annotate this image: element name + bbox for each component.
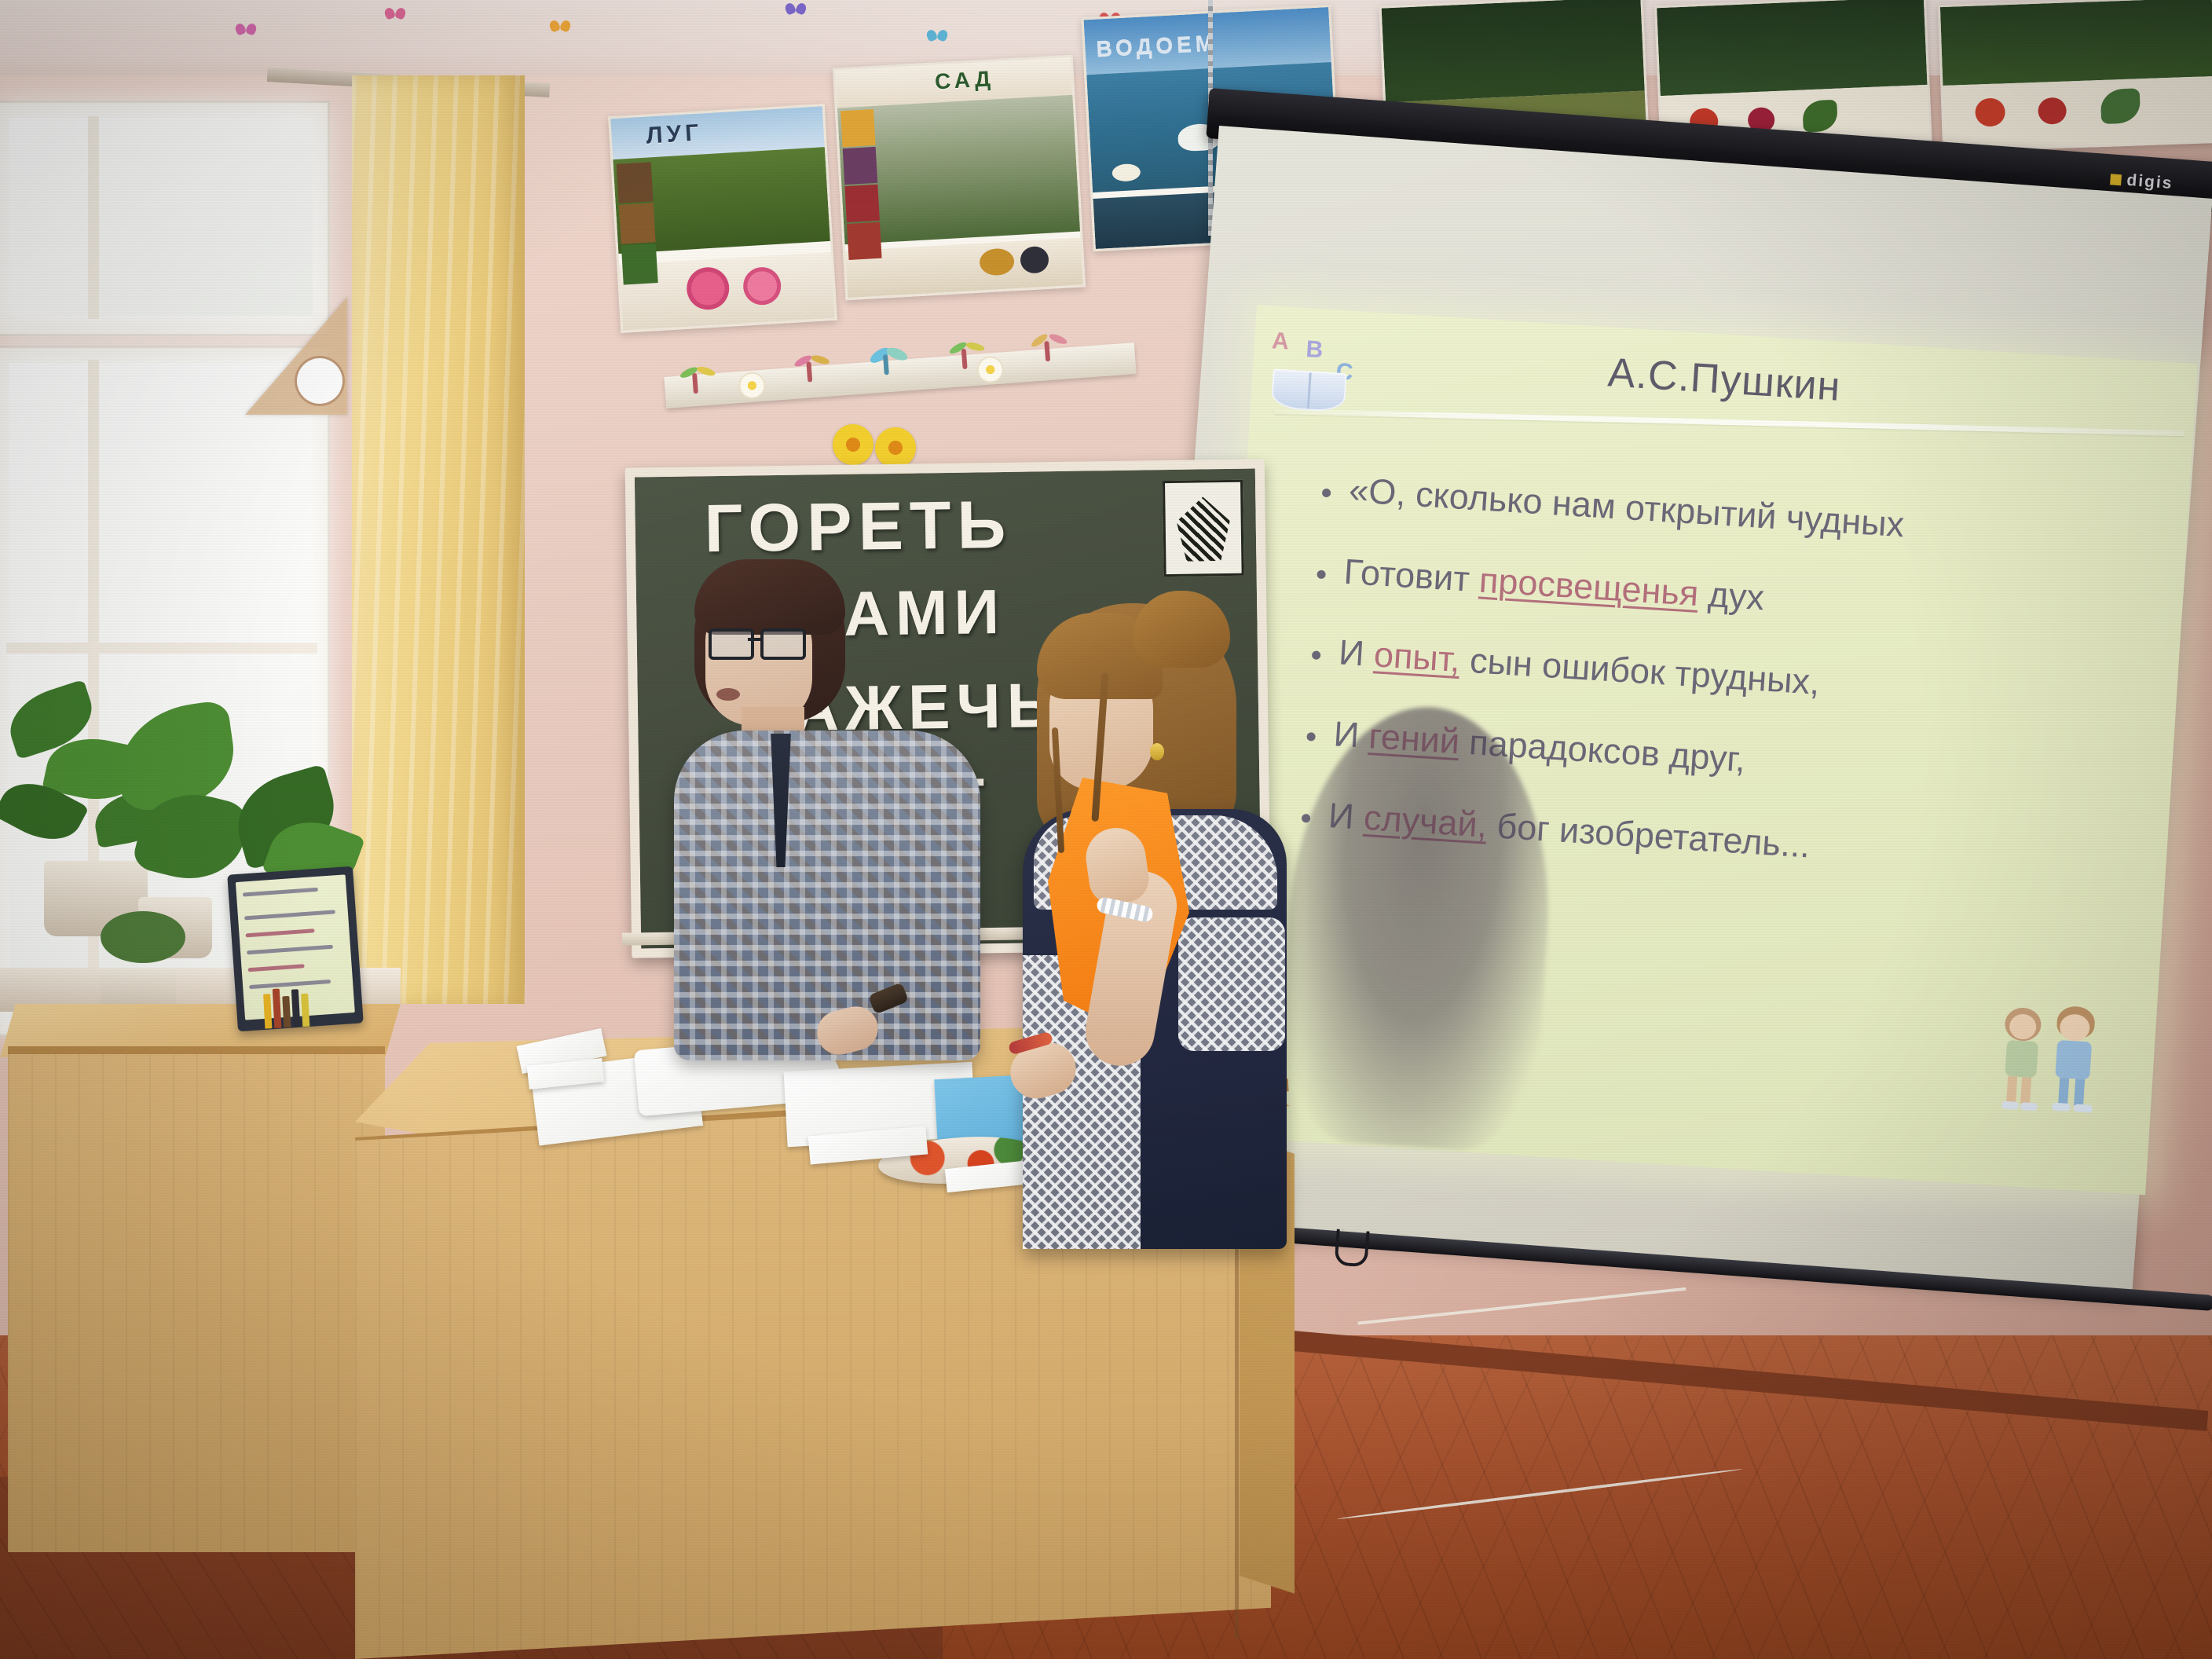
butterfly-body [883,354,889,375]
dragonfly-body [961,349,968,369]
bullet-text-prefix: «О, сколько нам открытий чудных [1348,470,1906,544]
teacher-hair-fringe [694,559,845,635]
brand-square-icon [2110,174,2122,185]
ceiling-butterfly-icon [236,24,256,35]
triangle-ruler-hole [297,358,342,404]
slide-bullet: Готовит просвещенья дух [1307,550,2159,641]
laptop-screen-line [247,945,333,955]
poster-title: ЛУГ [646,119,704,149]
window-glass-upper [9,118,313,316]
bullet-text-highlight: опыт, [1373,635,1462,680]
dragonfly-body [1044,341,1050,361]
pencil [273,989,282,1028]
pencil [291,989,300,1027]
laptop-screen-line [244,910,335,920]
dragonfly-wing [810,353,830,365]
poster-thumb [843,147,878,185]
pencil [263,994,272,1028]
window-curtain[interactable] [352,75,525,1004]
butterfly-icon [873,346,906,375]
ceiling-butterfly-icon [927,30,947,41]
window-mullion-h [6,643,317,654]
teacher-mouth [716,688,740,701]
flower-icon [739,373,764,398]
dragonfly-body [692,373,698,394]
glasses-bridge [748,638,760,641]
cactus-top [101,911,185,963]
bullet-text-suffix: дух [1697,573,1766,617]
wall-poster-plants [1938,0,2212,152]
poster-forest [1382,0,1645,102]
teacher-glasses [709,628,804,655]
projector-screen-hook [1334,1229,1369,1268]
ceiling-butterfly-icon [550,20,570,31]
plaque-graphic [1176,496,1230,562]
dragonfly-icon [1035,331,1068,361]
poster-forest [1657,0,1927,96]
poster-thumb [619,203,656,244]
poster-thumb [621,244,658,285]
teacher-blouse [674,731,980,1060]
side-desk-front [8,1049,385,1552]
cartoon-boy [2045,1005,2102,1113]
board-word-1: ГОРЕТЬ [704,486,1013,568]
laptop-screen-line-highlight [245,928,314,937]
cartoon-children-icon [1991,995,2116,1120]
dragonfly-icon [682,364,715,393]
laptop-screen-line [243,888,318,897]
pencil-cup [262,985,316,1028]
projector-brand-logo: digis [2110,170,2174,193]
wall-poster-garden: САД [833,55,1086,301]
dragonfly-wing [696,365,716,378]
bullet-text-highlight: просвещенья [1478,559,1700,613]
dragonfly-body [806,361,812,382]
dragonfly-wing [965,341,985,352]
student-earring [1150,743,1164,760]
window-mullion-v [88,116,99,319]
poster-title: САД [934,66,994,94]
student-lace-sleeve [1178,917,1285,1051]
glasses-lens-right [760,628,806,660]
ceiling-butterfly-icon [786,3,806,14]
laptop-screen-line-highlight [248,964,305,972]
slide-bullet: «О, сколько нам открытий чудных [1312,469,2164,560]
dragonfly-icon [951,339,984,368]
pencil [282,996,291,1027]
classroom-photo: ЛУГ САД ВОДОЕМ [0,0,2212,1659]
cartoon-girl [1994,1006,2049,1110]
bullet-text-prefix: Готовит [1342,551,1481,599]
bullet-text-suffix: сын ошибок трудных, [1459,640,1821,703]
wreath-flower [833,424,873,465]
poster-forest [1940,0,2212,86]
dragonfly-wing [1048,332,1068,346]
side-desk-edge [8,1046,385,1054]
poster-thumb [840,109,876,147]
poster-thumb [617,162,654,203]
glasses-lens-left [709,628,754,660]
wall-poster-meadow: ЛУГ [608,104,837,333]
pencil [301,994,309,1027]
poster-thumb [847,222,882,260]
bullet-text-prefix: И [1338,632,1375,675]
graduation-plaque-icon [1163,480,1244,577]
dragonfly-icon [797,353,829,382]
brand-label: digis [2126,171,2174,193]
poster-thumb [844,185,880,222]
wreath-flower [875,427,916,468]
ceiling-butterfly-icon [385,8,405,19]
